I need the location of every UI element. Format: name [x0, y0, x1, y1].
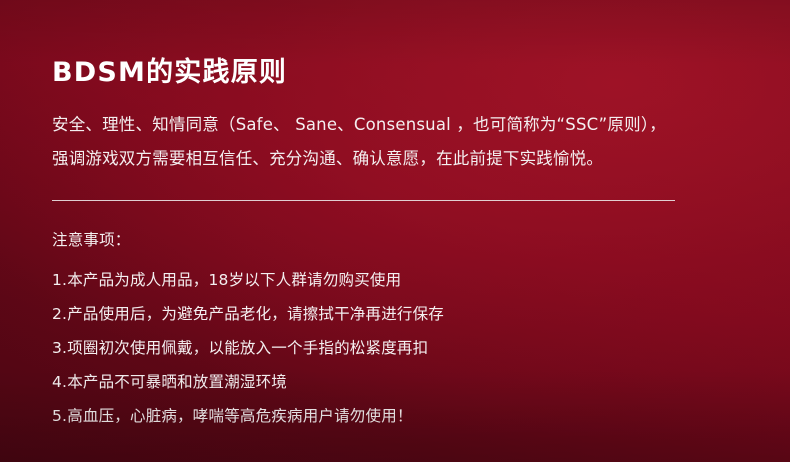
page-title: BDSM的实践原则 — [52, 56, 287, 90]
intro-paragraph: 安全、理性、知情同意（Safe、 Sane、Consensual ，也可简称为“… — [52, 108, 752, 176]
intro-line-1: 安全、理性、知情同意（Safe、 Sane、Consensual ，也可简称为“… — [52, 108, 752, 142]
product-info-banner: BDSM的实践原则 安全、理性、知情同意（Safe、 Sane、Consensu… — [0, 0, 790, 462]
notes-list: 1.本产品为成人用品，18岁以下人群请勿购买使用 2.产品使用后，为避免产品老化… — [52, 263, 752, 433]
list-item: 2.产品使用后，为避免产品老化，请擦拭干净再进行保存 — [52, 297, 752, 331]
list-item: 5.高血压，心脏病，哮喘等高危疾病用户请勿使用！ — [52, 399, 752, 433]
list-item: 1.本产品为成人用品，18岁以下人群请勿购买使用 — [52, 263, 752, 297]
list-item: 3.项圈初次使用佩戴，以能放入一个手指的松紧度再扣 — [52, 331, 752, 365]
notes-section: 注意事项： 1.本产品为成人用品，18岁以下人群请勿购买使用 2.产品使用后，为… — [52, 228, 752, 433]
notes-heading: 注意事项： — [52, 228, 752, 252]
section-divider — [52, 200, 675, 201]
intro-line-2: 强调游戏双方需要相互信任、充分沟通、确认意愿，在此前提下实践愉悦。 — [52, 142, 752, 176]
list-item: 4.本产品不可暴晒和放置潮湿环境 — [52, 365, 752, 399]
